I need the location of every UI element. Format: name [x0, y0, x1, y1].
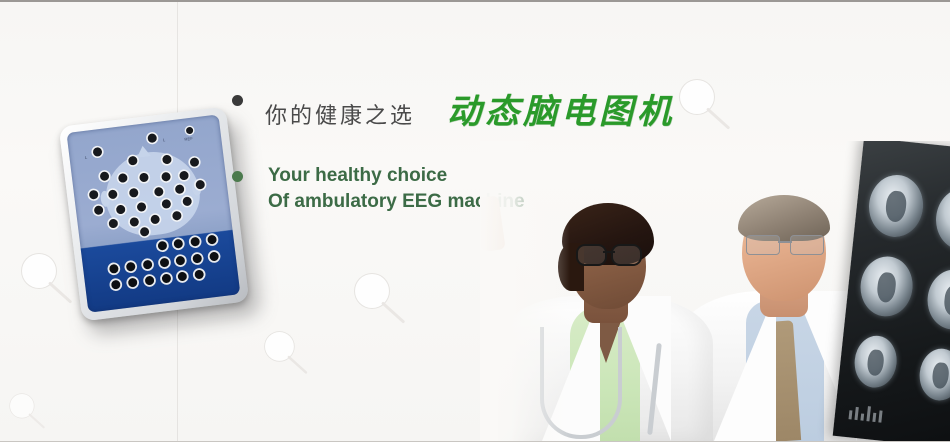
- electrode-jack: [99, 172, 109, 182]
- connector-jack: [209, 251, 219, 261]
- device-label: REF: [184, 136, 193, 142]
- connector-jack: [109, 264, 119, 274]
- device-body: L L REF: [59, 106, 250, 321]
- ct-brain-slice: [933, 185, 950, 252]
- female-doctor: [498, 141, 713, 441]
- eeg-promo-banner: L L REF: [0, 0, 950, 442]
- connector-jack: [192, 253, 202, 263]
- connector-jack: [111, 280, 121, 290]
- connector-jack: [176, 255, 186, 265]
- eyeglasses-icon: [746, 235, 824, 255]
- ct-brain-slice: [866, 172, 926, 239]
- connector-jack: [174, 239, 184, 249]
- connector-jack: [190, 237, 200, 247]
- bullet-dot-icon: [232, 95, 243, 106]
- electrode-jack: [172, 210, 182, 220]
- eeg-electrode-panel-device: L L REF: [64, 114, 254, 329]
- electrode-jack: [108, 218, 118, 228]
- electrode-jack: [196, 180, 206, 190]
- connector-jack: [161, 274, 171, 284]
- connector-jack: [142, 259, 152, 269]
- eyeglasses-icon: [576, 244, 642, 263]
- headline-lead-cn: 你的健康之选: [265, 98, 415, 130]
- head-nose-marker: [136, 145, 151, 158]
- connector-jack: [159, 257, 169, 267]
- electrode-jack: [186, 127, 194, 135]
- connector-jack: [207, 235, 217, 245]
- electrode-jack: [89, 189, 99, 199]
- electrode-jack: [107, 189, 117, 199]
- ct-brain-slice: [858, 254, 916, 319]
- electrode-jack: [161, 171, 171, 181]
- connector-jack: [178, 271, 188, 281]
- film-scale-markings: [849, 404, 883, 422]
- connector-jack: [157, 241, 167, 251]
- electrode-jack: [190, 157, 200, 167]
- device-label: L: [163, 137, 166, 142]
- connector-jack: [144, 276, 154, 286]
- bullet-dot-icon: [232, 171, 243, 182]
- ct-brain-slice: [917, 347, 950, 403]
- two-doctors-reviewing-brain-scan: CT: [480, 141, 950, 441]
- ct-brain-slice: [852, 334, 899, 390]
- ct-brain-slice: [925, 267, 950, 332]
- connector-jack: [194, 269, 204, 279]
- connector-jack: [126, 261, 136, 271]
- connector-jack: [128, 278, 138, 288]
- electrode-jack: [147, 133, 157, 143]
- electrode-jack: [94, 205, 104, 215]
- electrode-jack: [93, 147, 103, 157]
- stethoscope-icon: [540, 327, 622, 439]
- headline-title-cn: 动态脑电图机: [447, 84, 675, 133]
- headline-row: 你的健康之选 动态脑电图机: [232, 84, 662, 133]
- device-label: L: [85, 154, 88, 159]
- device-panel: L L REF: [66, 114, 240, 312]
